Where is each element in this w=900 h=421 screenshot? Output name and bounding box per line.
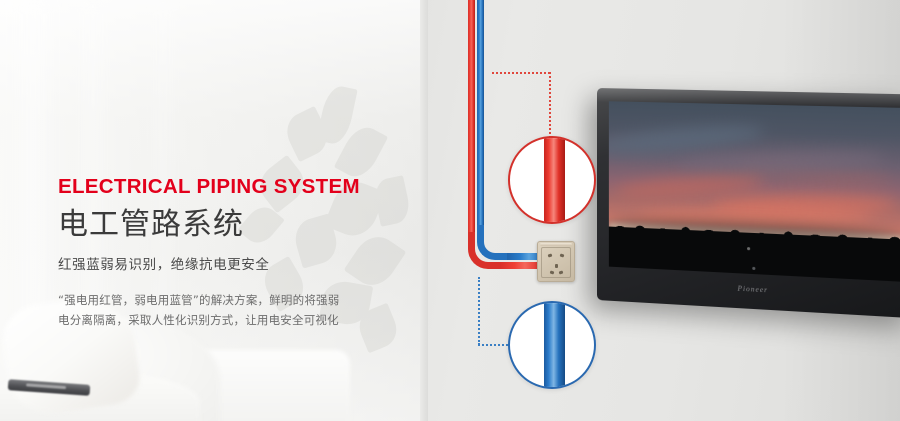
socket-top-slot (540, 243, 572, 246)
tv-screen-reflection (747, 247, 750, 250)
socket-inner-frame (541, 247, 571, 278)
blue-pipe-callout (508, 301, 596, 389)
body-paragraph: “强电用红管，弱电用蓝管”的解决方案，鲜明的将强弱电分离隔离，采取人性化识别方式… (58, 290, 343, 330)
red-pipe-closeup (544, 136, 565, 224)
red-leader-line-horizontal (492, 72, 550, 74)
red-pipe-callout (508, 136, 596, 224)
blue-pipe-closeup (544, 301, 565, 389)
eyebrow-title: ELECTRICAL PIPING SYSTEM (58, 176, 378, 198)
red-leader-line-vertical (549, 72, 551, 138)
page-title: 电工管路系统 (58, 207, 378, 242)
wall-socket[interactable] (537, 241, 575, 282)
blue-leader-line-horizontal (478, 344, 512, 346)
red-pipe-vertical (468, 0, 475, 244)
blue-pipe-vertical (477, 0, 484, 236)
tv-screen (609, 101, 900, 282)
subtitle: 红强蓝弱易识别，绝缘抗电更安全 (58, 253, 378, 273)
blue-leader-line-vertical (478, 277, 480, 345)
copy-block: ELECTRICAL PIPING SYSTEM 电工管路系统 红强蓝弱易识别，… (58, 176, 378, 330)
socket-hole (555, 264, 558, 268)
tv-power-led (752, 267, 755, 270)
tv-brand-label: Pioneer (738, 285, 768, 295)
banner-stage: Pioneer (0, 0, 900, 421)
television: Pioneer (597, 88, 900, 318)
